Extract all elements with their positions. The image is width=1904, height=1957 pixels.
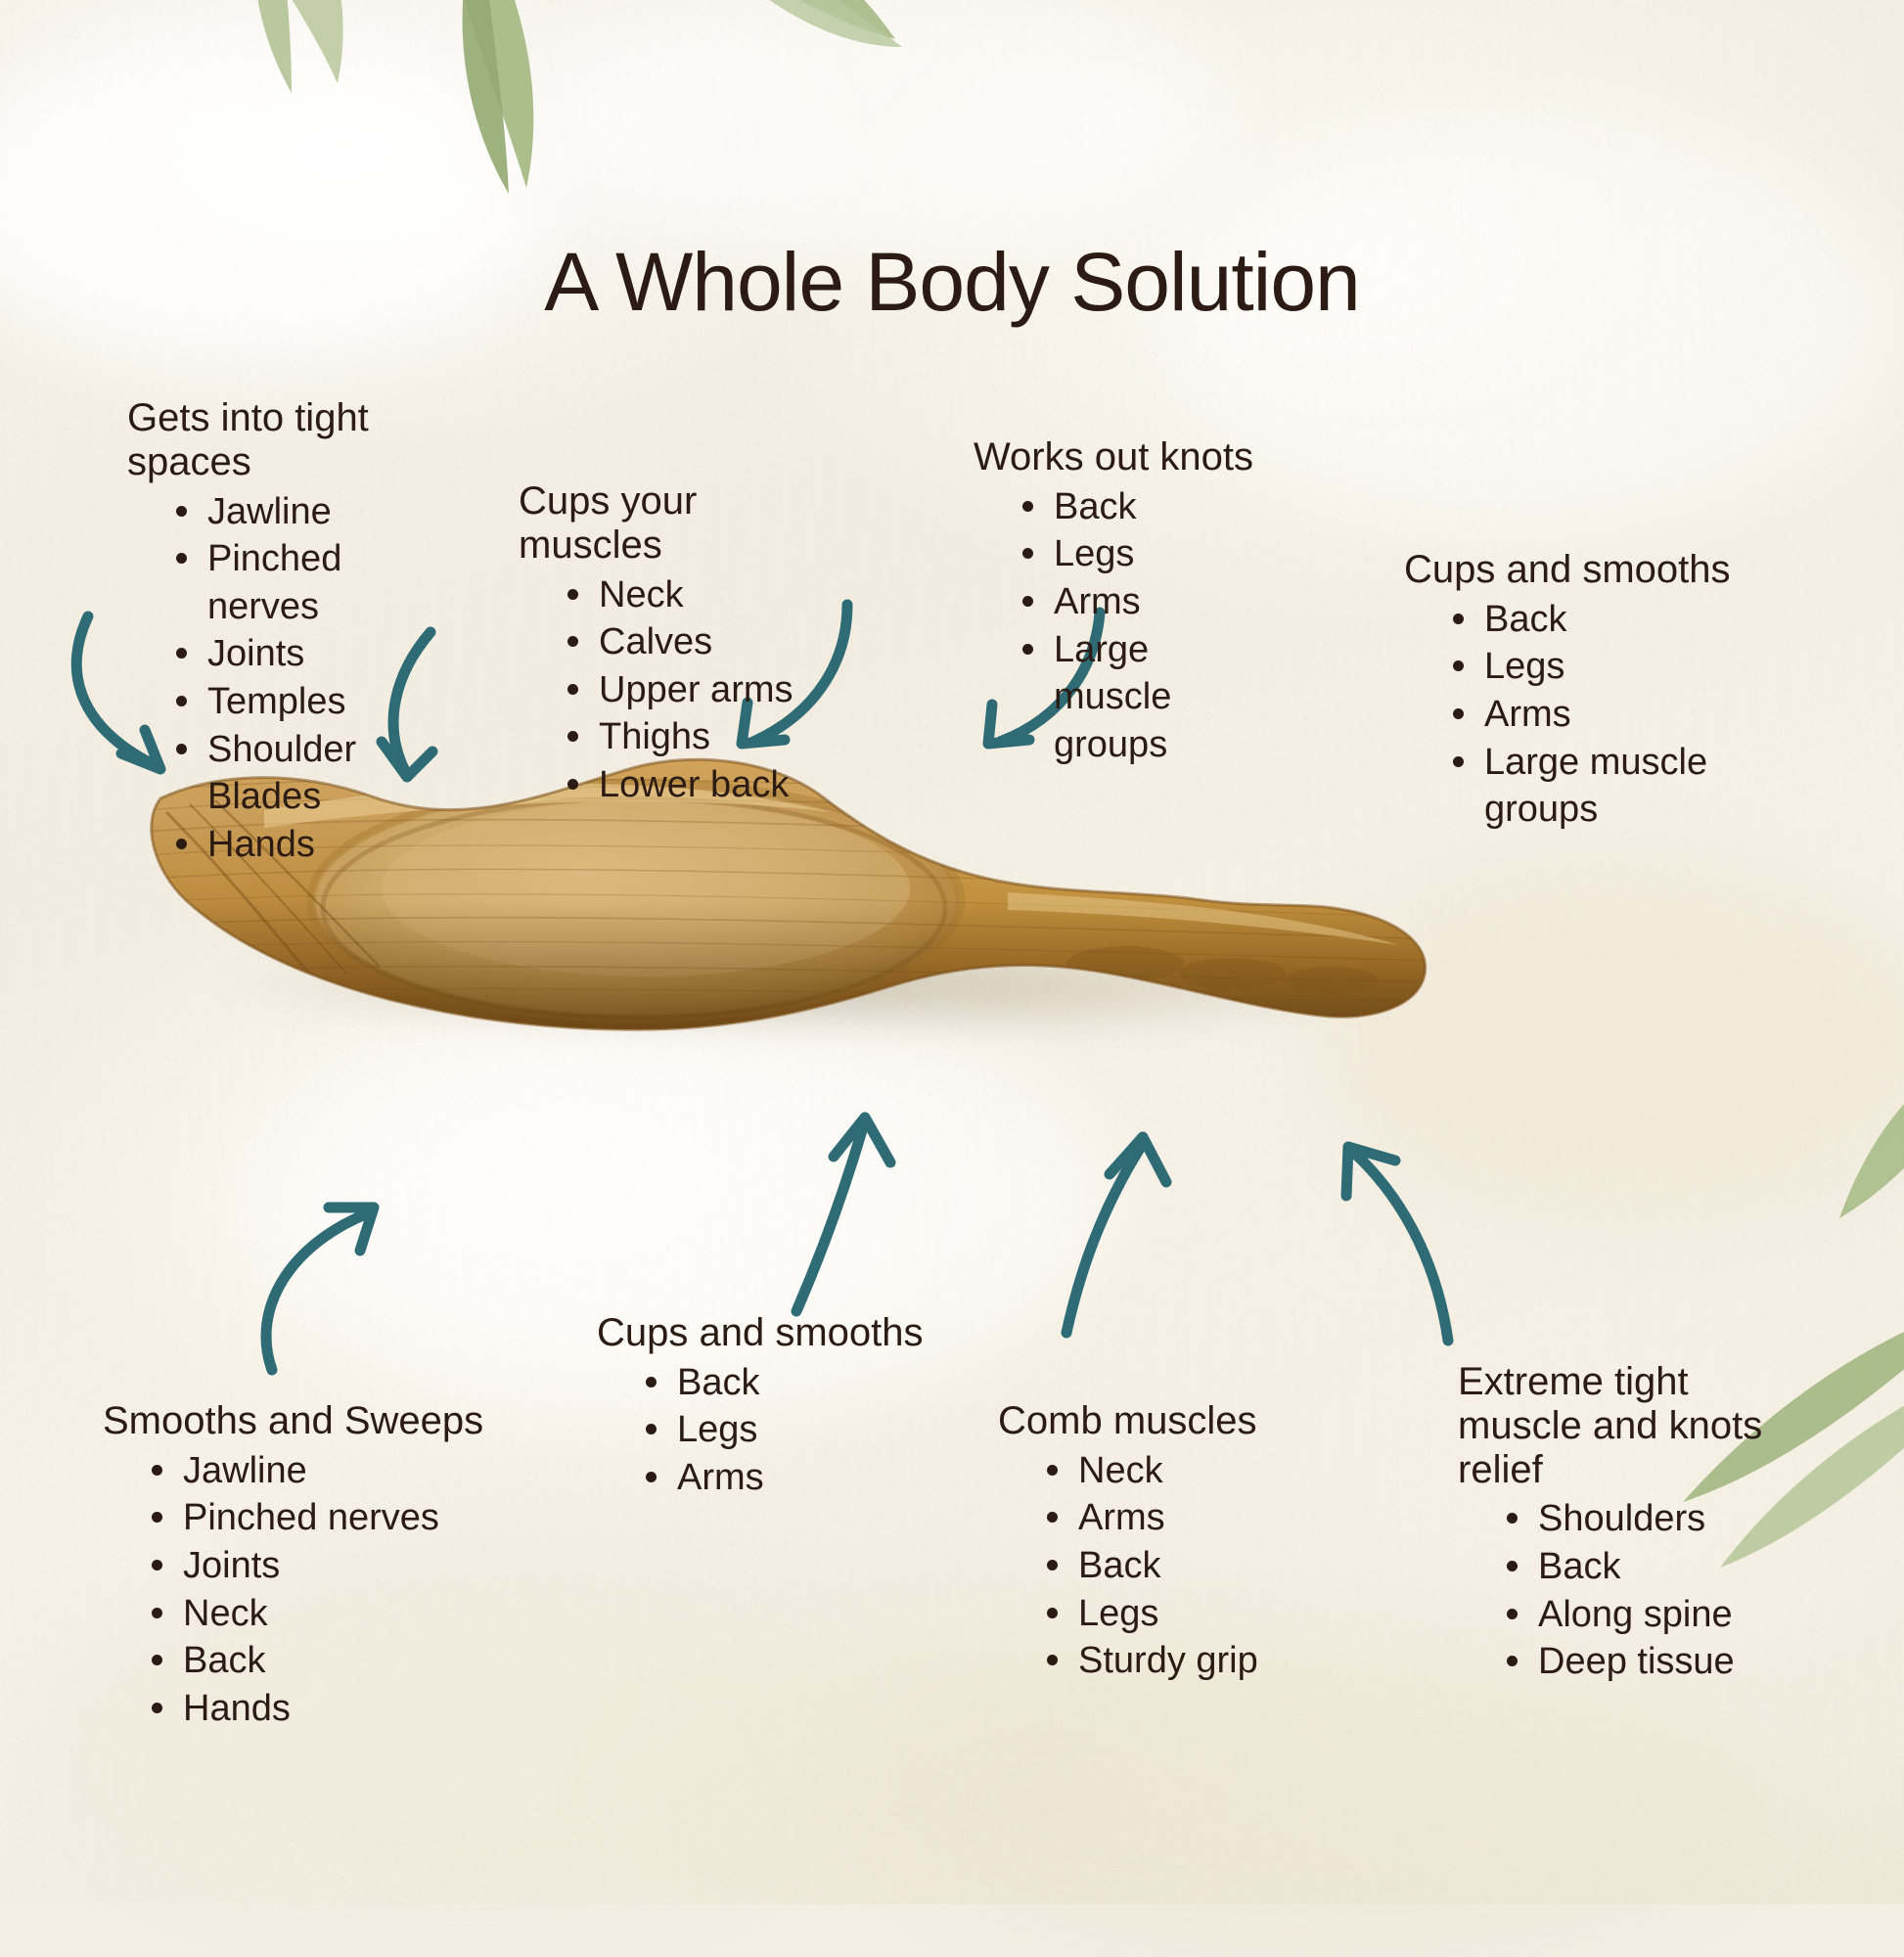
list-item: Legs — [1043, 1590, 1321, 1638]
callout-list: Back Legs Arms Large muscle groups — [1404, 596, 1786, 834]
callout-list: Neck Calves Upper arms Thighs Lower back — [519, 571, 841, 809]
callout-heading: Smooths and Sweeps — [103, 1399, 494, 1443]
callout-list: Jawline Pinched nerves Joints Temples Sh… — [127, 488, 421, 869]
list-item: Legs — [1449, 643, 1786, 691]
list-item: Shoulder Blades — [172, 726, 421, 821]
list-item: Neck — [148, 1590, 494, 1638]
callout-list: Shoulders Back Along spine Deep tissue — [1458, 1495, 1805, 1686]
list-item: Back — [148, 1637, 494, 1685]
callout-cups-and-smooths-bottom: Cups and smooths Back Legs Arms — [597, 1311, 969, 1502]
callout-list: Back Legs Arms — [597, 1359, 969, 1502]
list-item: Back — [1019, 483, 1267, 531]
list-item: Shoulders — [1503, 1495, 1805, 1543]
list-item: Deep tissue — [1503, 1638, 1805, 1686]
list-item: Back — [1043, 1542, 1321, 1590]
list-item: Legs — [642, 1406, 969, 1454]
list-item: Large muscle groups — [1019, 626, 1267, 769]
list-item: Neck — [1043, 1447, 1321, 1495]
callout-heading: Comb muscles — [998, 1399, 1321, 1443]
list-item: Joints — [148, 1542, 494, 1590]
list-item: Hands — [148, 1685, 494, 1733]
page-title: A Whole Body Solution — [0, 235, 1904, 330]
callout-list: Neck Arms Back Legs Sturdy grip — [998, 1447, 1321, 1685]
callout-heading: Gets into tight spaces — [127, 396, 421, 484]
list-item: Arms — [1019, 578, 1267, 626]
list-item: Sturdy grip — [1043, 1637, 1321, 1685]
list-item: Pinched nerves — [172, 535, 421, 630]
callout-cups-and-smooths-right: Cups and smooths Back Legs Arms Large mu… — [1404, 548, 1786, 834]
callout-works-out-knots: Works out knots Back Legs Arms Large mus… — [974, 435, 1267, 769]
list-item: Temples — [172, 678, 421, 726]
list-item: Joints — [172, 630, 421, 678]
callout-comb-muscles: Comb muscles Neck Arms Back Legs Sturdy … — [998, 1399, 1321, 1685]
callout-smooths-and-sweeps: Smooths and Sweeps Jawline Pinched nerve… — [103, 1399, 494, 1733]
callout-extreme-tight-muscle-and-knots-relief: Extreme tight muscle and knots relief Sh… — [1458, 1360, 1805, 1686]
list-item: Legs — [1019, 530, 1267, 578]
list-item: Along spine — [1503, 1591, 1805, 1639]
list-item: Large muscle groups — [1449, 739, 1786, 834]
callout-gets-into-tight-spaces: Gets into tight spaces Jawline Pinched n… — [127, 396, 421, 869]
list-item: Arms — [1043, 1494, 1321, 1542]
list-item: Neck — [564, 571, 841, 619]
callout-cups-your-muscles: Cups your muscles Neck Calves Upper arms… — [519, 479, 841, 809]
list-item: Pinched nerves — [148, 1494, 494, 1542]
list-item: Arms — [642, 1454, 969, 1502]
list-item: Upper arms — [564, 666, 841, 714]
list-item: Back — [1503, 1543, 1805, 1591]
list-item: Jawline — [148, 1447, 494, 1495]
callout-heading: Extreme tight muscle and knots relief — [1458, 1360, 1805, 1491]
list-item: Calves — [564, 618, 841, 666]
callout-heading: Cups and smooths — [1404, 548, 1786, 592]
list-item: Jawline — [172, 488, 421, 536]
list-item: Back — [1449, 596, 1786, 644]
list-item: Arms — [1449, 691, 1786, 739]
callout-list: Back Legs Arms Large muscle groups — [974, 483, 1267, 769]
list-item: Lower back — [564, 761, 841, 809]
list-item: Hands — [172, 821, 421, 869]
callout-heading: Works out knots — [974, 435, 1267, 479]
callout-list: Jawline Pinched nerves Joints Neck Back … — [103, 1447, 494, 1733]
callout-heading: Cups your muscles — [519, 479, 841, 568]
list-item: Back — [642, 1359, 969, 1407]
callout-heading: Cups and smooths — [597, 1311, 969, 1355]
list-item: Thighs — [564, 713, 841, 761]
